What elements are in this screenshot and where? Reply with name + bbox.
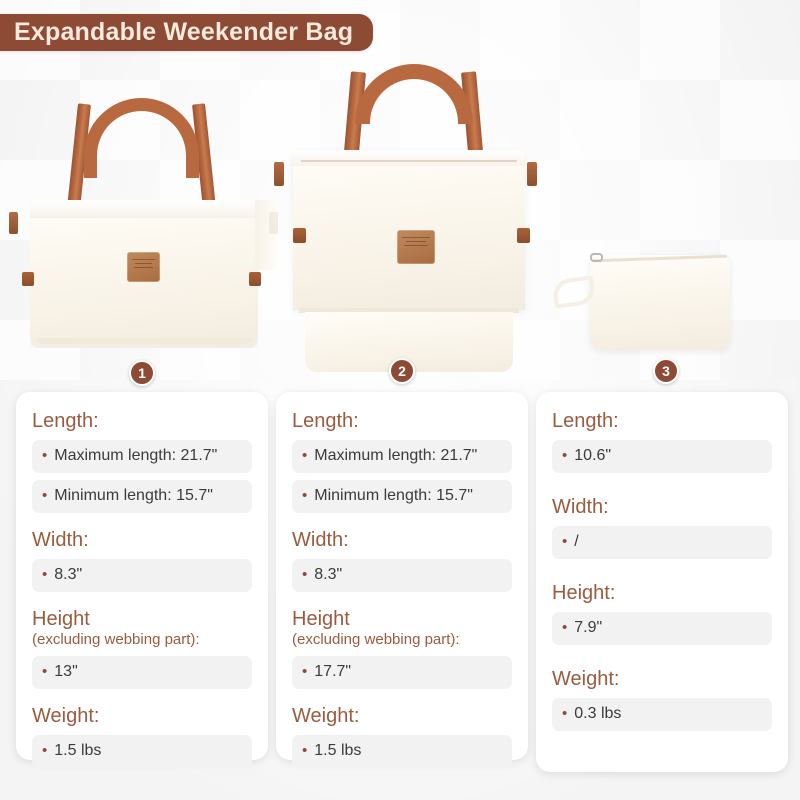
spacer — [552, 652, 772, 668]
bullet-icon: • — [562, 448, 567, 463]
product-badge-3: 3 — [653, 358, 679, 384]
card1-length-label: Length: — [32, 410, 252, 433]
card3-weight-label: Weight: — [552, 668, 772, 691]
spec-card-2: Length: • Maximum length: 21.7" • Minimu… — [276, 392, 528, 760]
card3-length-value[interactable]: • 10.6" — [552, 440, 772, 473]
bullet-icon: • — [302, 488, 307, 503]
bullet-icon: • — [302, 664, 307, 679]
card1-height-value[interactable]: • 13" — [32, 656, 252, 689]
bullet-icon: • — [42, 743, 47, 758]
bullet-icon: • — [302, 743, 307, 758]
page-title-banner: Expandable Weekender Bag — [0, 14, 373, 51]
card2-length-min-text: Minimum length: 15.7" — [314, 486, 473, 506]
bullet-icon: • — [42, 567, 47, 582]
card3-width-value[interactable]: • / — [552, 526, 772, 559]
card2-weight-label: Weight: — [292, 705, 512, 728]
card1-weight-value[interactable]: • 1.5 lbs — [32, 735, 252, 768]
spacer — [552, 480, 772, 496]
card1-height-text: 13" — [54, 662, 77, 682]
card1-weight-label: Weight: — [32, 705, 252, 728]
product-badge-1: 1 — [129, 360, 155, 386]
card1-width-text: 8.3" — [54, 565, 82, 585]
card3-height-text: 7.9" — [574, 618, 602, 638]
card2-height-text: 17.7" — [314, 662, 351, 682]
card2-width-value[interactable]: • 8.3" — [292, 559, 512, 592]
page-title: Expandable Weekender Bag — [14, 18, 353, 47]
card3-height-label: Height: — [552, 582, 772, 605]
card3-length-label: Length: — [552, 410, 772, 433]
product-badge-1-number: 1 — [138, 365, 146, 381]
card3-height-value[interactable]: • 7.9" — [552, 612, 772, 645]
bullet-icon: • — [42, 664, 47, 679]
product-badge-3-number: 3 — [662, 363, 670, 379]
product-badge-2-number: 2 — [398, 363, 406, 379]
card1-height-sublabel: (excluding webbing part): — [32, 631, 252, 649]
card1-length-min-value[interactable]: • Minimum length: 15.7" — [32, 480, 252, 513]
card2-width-label: Width: — [292, 529, 512, 552]
card1-width-label: Width: — [32, 529, 252, 552]
card3-width-text: / — [574, 532, 578, 552]
card2-length-max-value[interactable]: • Maximum length: 21.7" — [292, 440, 512, 473]
card2-weight-value[interactable]: • 1.5 lbs — [292, 735, 512, 768]
bullet-icon: • — [42, 448, 47, 463]
card2-height-sublabel: (excluding webbing part): — [292, 631, 512, 649]
spacer — [292, 520, 512, 529]
card2-weight-text: 1.5 lbs — [314, 741, 361, 761]
card1-weight-text: 1.5 lbs — [54, 741, 101, 761]
product-spec-infographic: Expandable Weekender Bag — [0, 0, 800, 800]
card3-weight-text: 0.3 lbs — [574, 704, 621, 724]
card2-height-value[interactable]: • 17.7" — [292, 656, 512, 689]
bullet-icon: • — [42, 488, 47, 503]
bullet-icon: • — [562, 534, 567, 549]
spec-card-group: Length: • Maximum length: 21.7" • Minimu… — [0, 0, 800, 800]
card2-length-min-value[interactable]: • Minimum length: 15.7" — [292, 480, 512, 513]
card3-width-label: Width: — [552, 496, 772, 519]
card1-length-max-text: Maximum length: 21.7" — [54, 446, 217, 466]
card3-weight-value[interactable]: • 0.3 lbs — [552, 698, 772, 731]
spacer — [292, 696, 512, 705]
card2-length-label: Length: — [292, 410, 512, 433]
card1-length-min-text: Minimum length: 15.7" — [54, 486, 213, 506]
card1-width-value[interactable]: • 8.3" — [32, 559, 252, 592]
card1-length-max-value[interactable]: • Maximum length: 21.7" — [32, 440, 252, 473]
product-badge-2: 2 — [389, 358, 415, 384]
spacer — [32, 520, 252, 529]
bullet-icon: • — [302, 448, 307, 463]
card3-length-text: 10.6" — [574, 446, 611, 466]
card2-length-max-text: Maximum length: 21.7" — [314, 446, 477, 466]
spacer — [32, 696, 252, 705]
spec-card-3: Length: • 10.6" Width: • / Height: • 7.9… — [536, 392, 788, 772]
spec-card-1: Length: • Maximum length: 21.7" • Minimu… — [16, 392, 268, 760]
bullet-icon: • — [562, 620, 567, 635]
card2-height-label: Height — [292, 608, 512, 631]
card1-height-label: Height — [32, 608, 252, 631]
spacer — [292, 599, 512, 608]
spacer — [32, 599, 252, 608]
bullet-icon: • — [302, 567, 307, 582]
spacer — [552, 566, 772, 582]
bullet-icon: • — [562, 706, 567, 721]
card2-width-text: 8.3" — [314, 565, 342, 585]
